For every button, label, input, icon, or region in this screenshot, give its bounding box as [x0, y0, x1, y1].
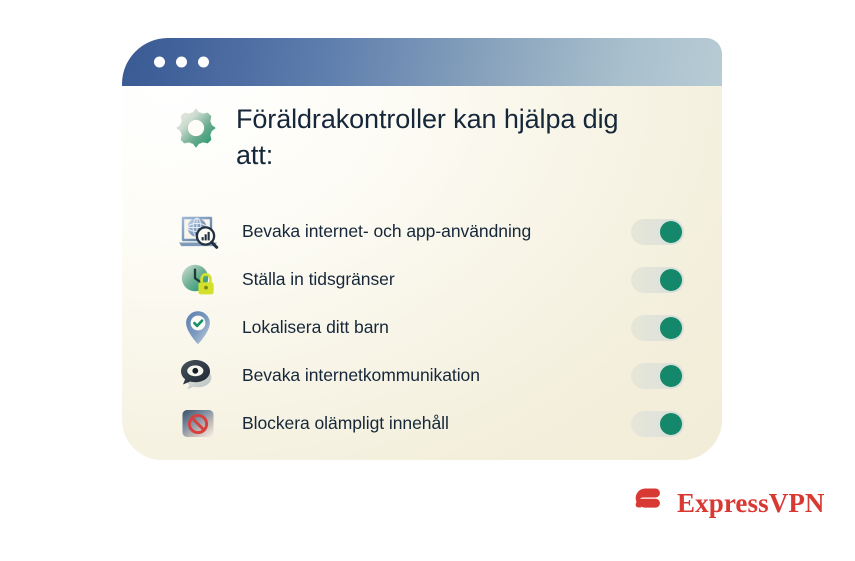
list-item-label: Ställa in tidsgränser	[222, 268, 622, 292]
minimize-dot-icon[interactable]	[176, 57, 187, 68]
clock-padlock-icon	[174, 258, 222, 302]
toggle-knob	[660, 317, 682, 339]
blocked-image-icon	[174, 402, 222, 446]
toggle-knob	[660, 413, 682, 435]
list-item-label: Bevaka internetkommunikation	[222, 364, 622, 388]
toggle-knob	[660, 269, 682, 291]
feature-toggle-wrap	[628, 267, 684, 293]
window-controls	[154, 57, 209, 68]
gear-icon	[174, 106, 218, 150]
heading-row: Föräldrakontroller kan hjälpa dig att:	[174, 102, 694, 173]
maximize-dot-icon[interactable]	[198, 57, 209, 68]
toggle-switch[interactable]	[631, 363, 684, 389]
list-item-label: Lokalisera ditt barn	[222, 316, 622, 340]
feature-toggle-wrap	[628, 219, 684, 245]
map-pin-check-icon	[174, 306, 222, 350]
list-item[interactable]: Lokalisera ditt barn	[174, 304, 684, 352]
list-item[interactable]: Bevaka internetkommunikation	[174, 352, 684, 400]
toggle-knob	[660, 365, 682, 387]
toggle-knob	[660, 221, 682, 243]
laptop-globe-magnifier-icon	[174, 210, 222, 254]
list-item[interactable]: Blockera olämpligt innehåll	[174, 400, 684, 448]
feature-toggle-wrap	[628, 315, 684, 341]
page-title: Föräldrakontroller kan hjälpa dig att:	[236, 102, 636, 173]
window-titlebar	[122, 38, 722, 86]
browser-window-card: Föräldrakontroller kan hjälpa dig att:	[122, 38, 722, 460]
list-item-label: Blockera olämpligt innehåll	[222, 412, 622, 436]
expressvpn-e-mark-icon	[628, 482, 666, 525]
feature-toggle-wrap	[628, 363, 684, 389]
card-body: Föräldrakontroller kan hjälpa dig att:	[122, 86, 722, 460]
feature-toggle-wrap	[628, 411, 684, 437]
close-dot-icon[interactable]	[154, 57, 165, 68]
toggle-switch[interactable]	[631, 411, 684, 437]
toggle-switch[interactable]	[631, 315, 684, 341]
list-item[interactable]: Ställa in tidsgränser	[174, 256, 684, 304]
list-item[interactable]: Bevaka internet- och app-användning	[174, 208, 684, 256]
expressvpn-wordmark: ExpressVPN	[677, 488, 825, 519]
toggle-switch[interactable]	[631, 267, 684, 293]
speech-bubble-eye-icon	[174, 354, 222, 398]
feature-list: Bevaka internet- och app-användning	[174, 208, 684, 448]
list-item-label: Bevaka internet- och app-användning	[222, 220, 622, 244]
expressvpn-logo[interactable]: ExpressVPN	[628, 482, 825, 525]
toggle-switch[interactable]	[631, 219, 684, 245]
